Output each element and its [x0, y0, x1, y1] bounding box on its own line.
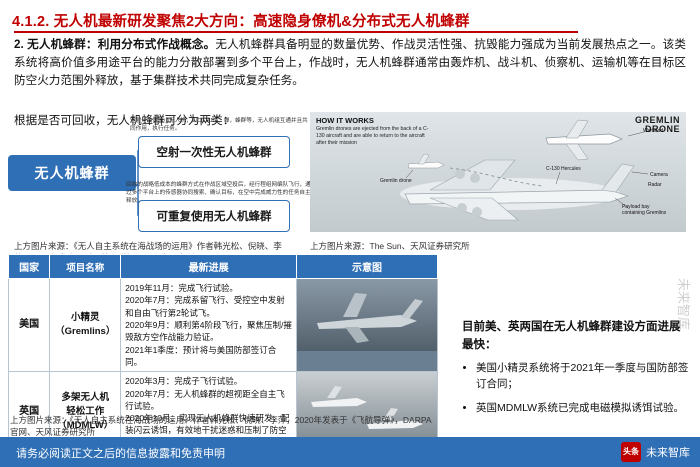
- table-header-progress: 最新进展: [121, 255, 297, 279]
- label-camera: Camera: [650, 172, 668, 178]
- toutiao-badge-icon: 头条: [621, 442, 641, 462]
- cell-progress-1: 2019年11月：完成飞行试验。 2020年7月：完成系留飞行、受控空中发射和自…: [121, 279, 297, 372]
- mindmap-note-bottom: 回收的战略低成本的蜂群方式在作战区域空投后，经行程组网编队飞行，通过多个平台上的…: [126, 182, 312, 205]
- lead-title: 无人机蜂群：利用分布式作战概念。: [27, 38, 215, 51]
- page-title: 4.1.2. 无人机最新研发聚焦2大方向：高速隐身僚机&分布式无人机蜂群: [12, 10, 688, 31]
- table-source: 上方图片来源：《无人自主系统在海战场的运用》作者韩光松、倪晓、李萍，2020年发…: [10, 414, 440, 438]
- section-number: 4.1.2.: [12, 14, 49, 30]
- brand-name: 未来智库: [646, 444, 690, 460]
- mindmap-node-1: 空射一次性无人机蜂群: [138, 136, 290, 168]
- mindmap-node-1-label: 空射一次性无人机蜂群: [157, 144, 272, 160]
- title-text: 无人机最新研发聚焦2大方向：高速隐身僚机&分布式无人机蜂群: [54, 14, 470, 30]
- cell-project-1: 小精灵 （Gremlins）: [50, 279, 121, 372]
- lead-number: 2.: [14, 38, 24, 51]
- table-row: 美国 小精灵 （Gremlins） 2019年11月：完成飞行试验。 2020年…: [9, 279, 438, 372]
- mindmap-note-top: 空射一次性微小无人机，如CICADA、蝉，蜂群等，无人机组互通并且共同作用，执行…: [130, 118, 310, 134]
- title-underline: [14, 31, 578, 33]
- gremlin-infographic: HOW IT WORKS Gremlin drones are ejected …: [310, 112, 686, 232]
- table-header-project: 项目名称: [50, 255, 121, 279]
- drone-photo-1: [297, 279, 437, 351]
- label-payload-bay: Payload bay containing Gremlins: [622, 204, 668, 216]
- body-paragraph: 2. 无人机蜂群：利用分布式作战概念。无人机蜂群具备明显的数量优势、作战灵活性强…: [14, 36, 686, 90]
- table-header-illustration: 示意图: [296, 255, 437, 279]
- bullet-item: 美国小精灵系统将于2021年一季度与国防部签订合同；: [476, 360, 692, 393]
- cell-illustration-1: [296, 279, 437, 372]
- table-header-country: 国家: [9, 255, 50, 279]
- infographic-subtitle: Gremlin drones are ejected from the back…: [316, 126, 436, 146]
- cell-country-1: 美国: [9, 279, 50, 372]
- label-c130-hercules: C-130 Hercules: [546, 166, 581, 172]
- infographic-title: HOW IT WORKS: [316, 116, 374, 125]
- page-watermark: 未来智库: [675, 278, 694, 330]
- right-panel-lead: 目前美、英两国在无人机蜂群建设方面进展最快：: [462, 318, 690, 355]
- footer-disclaimer: 请务必阅读正文之后的信息披露和免责申明: [16, 445, 225, 461]
- label-warhead: Warhead: [643, 128, 663, 134]
- mindmap-root: 无人机蜂群: [8, 155, 136, 191]
- caption-right: 上方图片来源：The Sun、天风证券研究所: [310, 240, 686, 252]
- label-radar: Radar: [648, 182, 662, 188]
- footer-bar: 请务必阅读正文之后的信息披露和免责申明 头条 未来智库: [0, 437, 700, 467]
- footer-brand: 头条 未来智库: [621, 442, 690, 462]
- mindmap-node-2-label: 可重复使用无人机蜂群: [157, 208, 272, 224]
- slide-page: 4.1.2. 无人机最新研发聚焦2大方向：高速隐身僚机&分布式无人机蜂群 2. …: [0, 0, 700, 467]
- label-gremlin-drone: Gremlin drone: [380, 178, 420, 184]
- bullet-item: 英国MDMLW系统已完成电磁模拟诱饵试验。: [476, 400, 692, 416]
- right-panel-bullets: 美国小精灵系统将于2021年一季度与国防部签订合同； 英国MDMLW系统已完成电…: [462, 360, 692, 423]
- table-header-row: 国家 项目名称 最新进展 示意图: [9, 255, 438, 279]
